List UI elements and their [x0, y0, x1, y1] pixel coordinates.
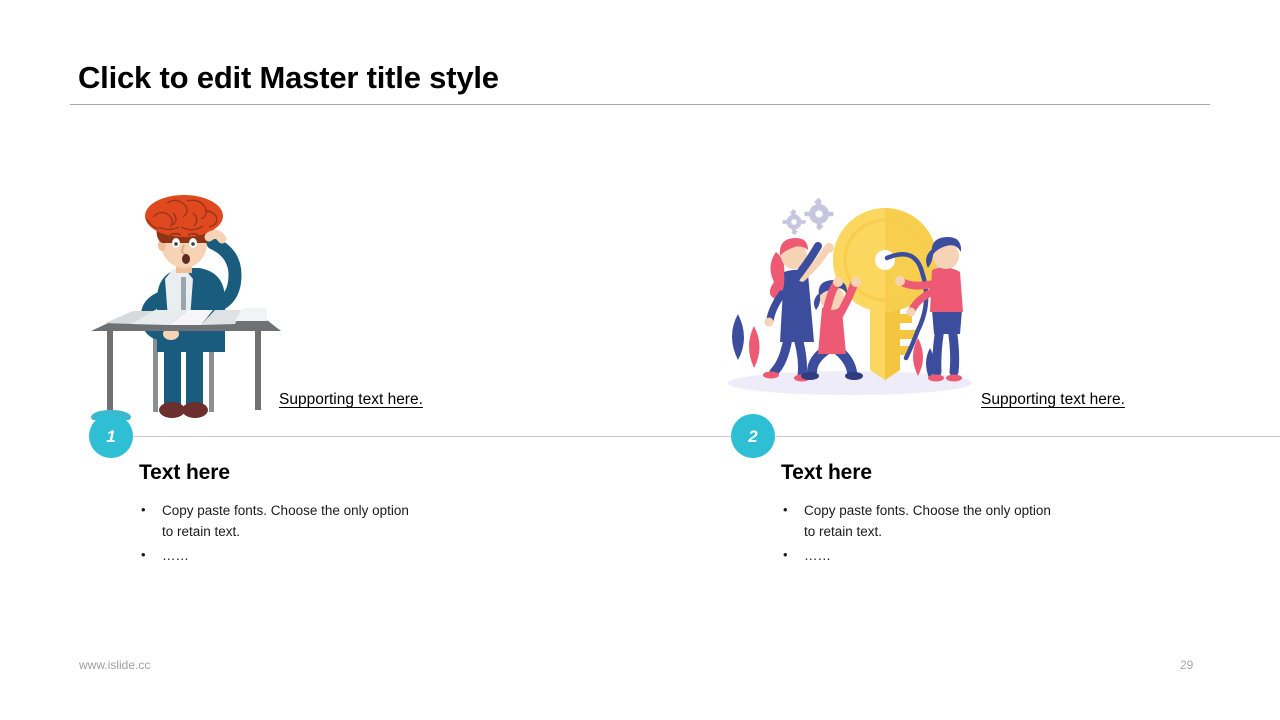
list-item: …… — [139, 546, 412, 567]
footer-website-url: www.islide.cc — [79, 658, 150, 672]
list-item: Copy paste fonts. Choose the only option… — [139, 501, 412, 542]
content-heading-2: Text here — [781, 461, 1111, 485]
content-heading-1: Text here — [139, 461, 469, 485]
step-badge-2: 2 — [731, 414, 775, 458]
section-divider — [133, 436, 1280, 437]
content-block-1: Text here Copy paste fonts. Choose the o… — [139, 461, 469, 571]
thinking-person-at-desk-illustration — [85, 195, 285, 420]
bullet-list-2: Copy paste fonts. Choose the only option… — [781, 501, 1111, 567]
team-lifting-giant-key-illustration — [722, 198, 980, 396]
slide-page-number: 29 — [1180, 658, 1193, 672]
title-divider — [70, 104, 1210, 105]
bullet-list-1: Copy paste fonts. Choose the only option… — [139, 501, 469, 567]
supporting-text-link-1[interactable]: Supporting text here. — [279, 391, 423, 409]
list-item: Copy paste fonts. Choose the only option… — [781, 501, 1054, 542]
step-badge-1: 1 — [89, 414, 133, 458]
content-block-2: Text here Copy paste fonts. Choose the o… — [781, 461, 1111, 571]
supporting-text-link-2[interactable]: Supporting text here. — [981, 391, 1125, 409]
list-item: …… — [781, 546, 1054, 567]
page-title: Click to edit Master title style — [78, 60, 499, 96]
